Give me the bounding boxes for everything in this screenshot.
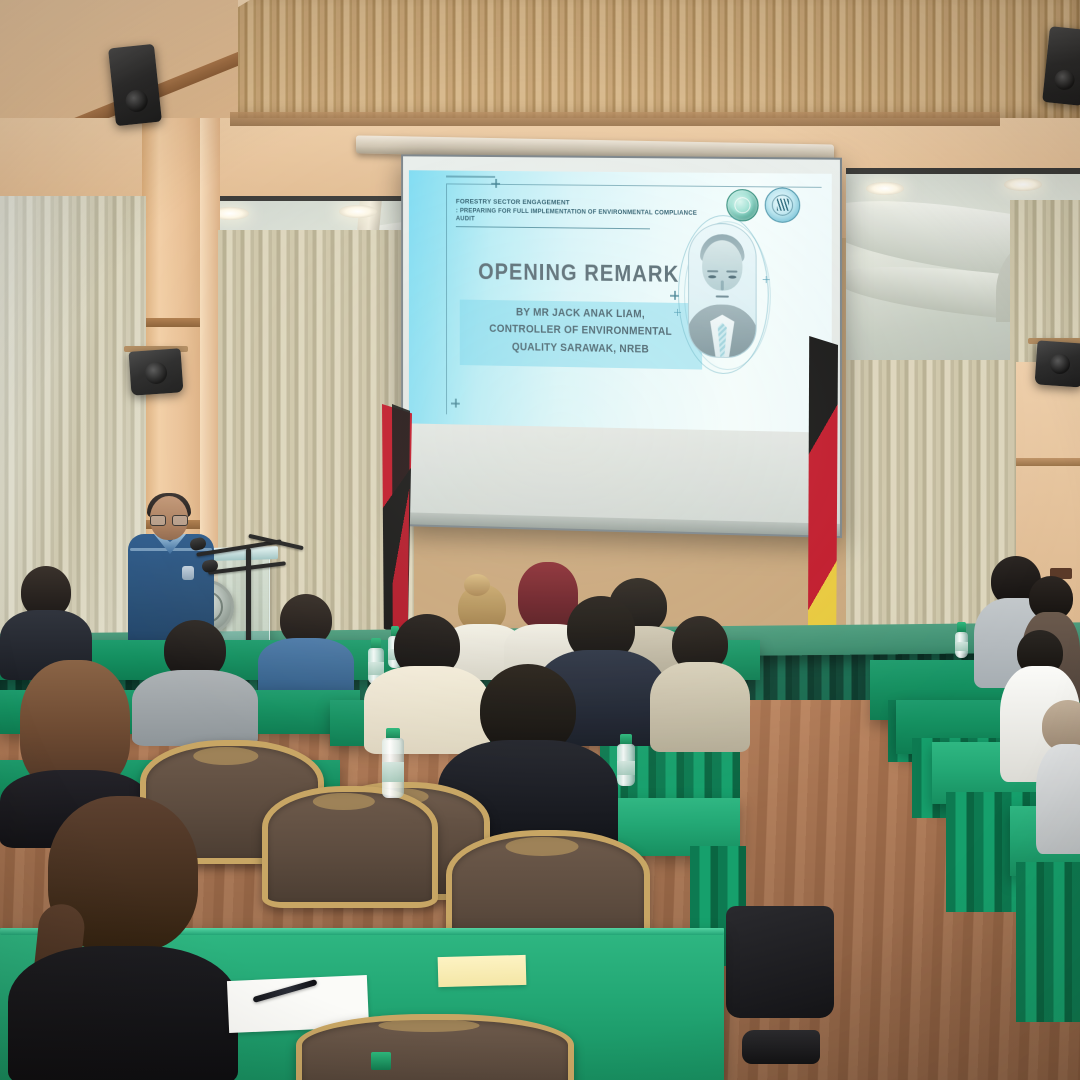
yellow-notepad: [438, 955, 527, 987]
sarawak-flag-right: [808, 336, 838, 636]
logo-bars-icon: [777, 199, 789, 211]
portrait-photo: [688, 223, 757, 359]
wall-speaker-right: [1035, 340, 1080, 387]
mineral-water-bottle: [366, 1052, 396, 1080]
bottle-body: [382, 738, 404, 798]
attendee-ponytail-foreground: [8, 796, 238, 1080]
sarawak-flag-left-fold: [392, 404, 410, 634]
slide-tick-icon: [491, 179, 500, 188]
slide-subtitle: BY MR JACK ANAK LIAM, CONTROLLER OF ENVI…: [472, 304, 690, 360]
slide-kicker-line2: : PREPARING FOR FULL IMPLEMENTATION OF E…: [456, 207, 714, 226]
downlight-icon: [339, 205, 377, 218]
attendee-torso: [650, 662, 750, 752]
slide-portrait: [682, 217, 761, 369]
bottle-body: [617, 744, 635, 786]
projection-screen: FORESTRY SECTOR ENGAGEMENT : PREPARING F…: [401, 154, 842, 538]
forestry-department-logo: [765, 187, 801, 223]
chair-notch: [378, 1019, 479, 1032]
presenter-badge: [182, 566, 194, 580]
ceiling-beam: [230, 112, 1000, 126]
table-right-4-drape: [1016, 862, 1080, 1022]
bottle-body: [955, 632, 968, 658]
downlight-icon: [866, 182, 904, 195]
attendee-hair-bun: [464, 574, 490, 596]
mineral-water-bottle: [955, 622, 968, 658]
chair-notch: [193, 747, 258, 765]
portrait-face: [702, 240, 742, 291]
downlight-icon: [1004, 178, 1042, 191]
attendee-blue-shirt: [258, 594, 354, 694]
slide-title: OPENING REMARK: [469, 258, 689, 288]
banquet-chair[interactable]: [296, 1014, 562, 1080]
ceiling-speaker-top-left: [108, 44, 162, 126]
wall-speaker-left: [129, 348, 184, 396]
eyeglasses-icon: [150, 515, 188, 524]
attendee-torso: [132, 670, 258, 746]
ceiling-speaker-top-right: [1042, 26, 1080, 106]
sparkle-icon: [763, 276, 770, 283]
chair-notch: [313, 793, 375, 811]
attendee-torso: [258, 638, 354, 698]
attendee-torso: [1036, 744, 1080, 854]
shoe: [742, 1030, 820, 1064]
sparkle-icon: [674, 309, 681, 316]
presentation-slide: FORESTRY SECTOR ENGAGEMENT : PREPARING F…: [409, 170, 832, 432]
attendee-grey-polo: [132, 620, 258, 742]
attendee-bald-right: [1036, 700, 1080, 850]
mineral-water-bottle: [382, 728, 404, 798]
conference-hall-photo: FORESTRY SECTOR ENGAGEMENT : PREPARING F…: [0, 0, 1080, 1080]
backpack-on-floor: [726, 906, 834, 1018]
banquet-chair[interactable]: [262, 786, 426, 896]
chair-notch: [506, 837, 579, 856]
attendee-torso: [8, 946, 238, 1080]
bottle-label: [955, 642, 968, 651]
bottle-cap: [371, 1052, 390, 1070]
bottle-label: [382, 762, 404, 782]
slide-kicker: FORESTRY SECTOR ENGAGEMENT : PREPARING F…: [456, 198, 714, 226]
bottle-label: [617, 761, 635, 775]
mineral-water-bottle: [617, 734, 635, 786]
attendee-khaki-right: [650, 616, 750, 748]
slide-tick-icon: [451, 399, 460, 408]
